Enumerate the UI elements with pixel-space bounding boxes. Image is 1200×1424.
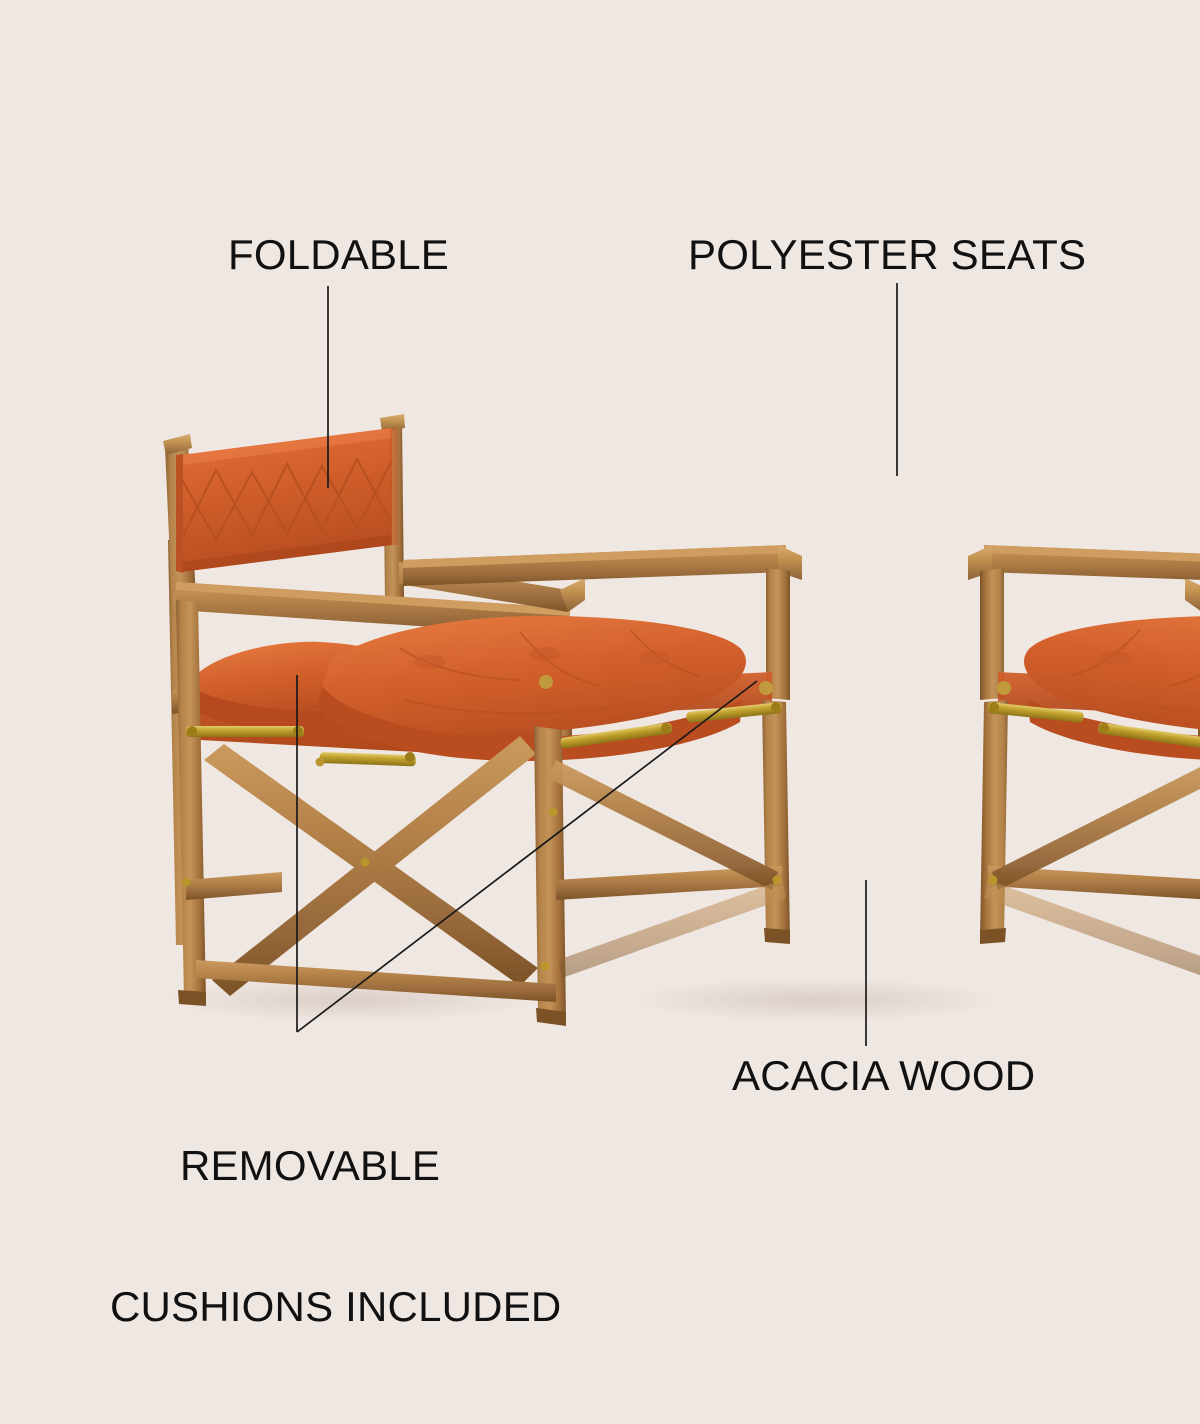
- callout-polyester-seats: POLYESTER SEATS: [688, 231, 1086, 278]
- callout-acacia-wood: ACACIA WOOD: [732, 1052, 1035, 1099]
- callout-removable-line2: CUSHIONS INCLUDED: [110, 1283, 510, 1330]
- callout-removable-cushions: REMOVABLE CUSHIONS INCLUDED: [110, 1048, 510, 1424]
- shadow-right: [630, 978, 1000, 1022]
- product-infographic: FOLDABLE POLYESTER SEATS REMOVABLE CUSHI…: [0, 0, 1200, 1200]
- callout-removable-line1: REMOVABLE: [110, 1142, 510, 1189]
- callout-foldable: FOLDABLE: [228, 231, 449, 278]
- chairs-illustration: [0, 0, 1200, 1200]
